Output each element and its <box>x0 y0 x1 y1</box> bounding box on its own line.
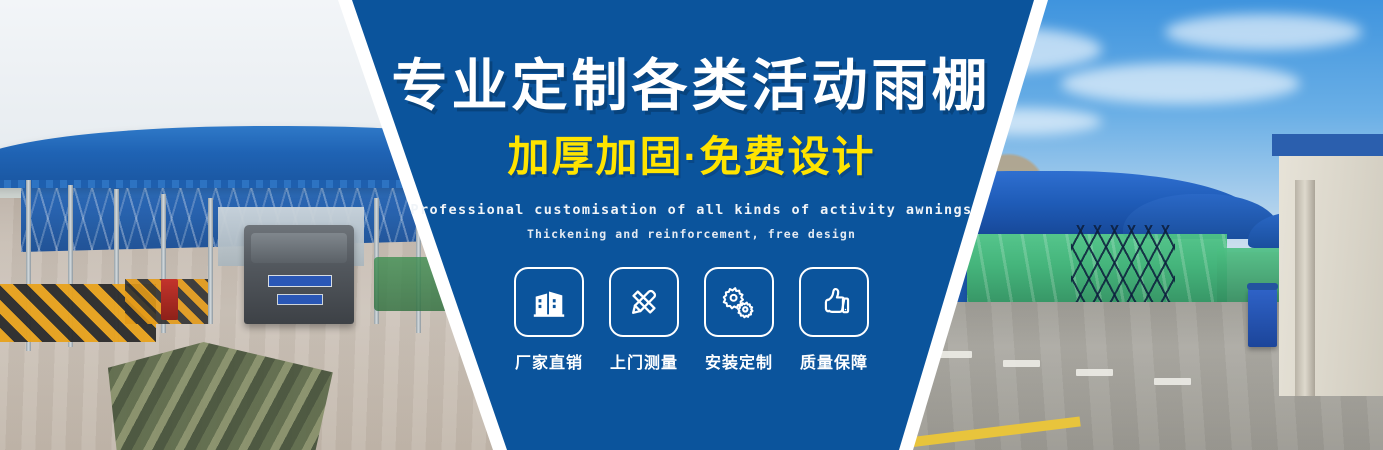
english-tagline-primary: Professional customisation of all kinds … <box>410 202 972 218</box>
banner-title: 专业定制各类活动雨棚 <box>392 58 992 114</box>
feature-item-onsite-measure[interactable]: 上门测量 <box>611 267 677 373</box>
feature-label: 厂家直销 <box>515 349 583 373</box>
english-tagline-secondary: Thickening and reinforcement, free desig… <box>527 227 856 241</box>
feature-label: 上门测量 <box>610 349 678 373</box>
feature-item-quality-guarantee[interactable]: 质量保障 <box>801 267 867 373</box>
building-icon <box>514 267 584 337</box>
feature-list: 厂家直销 上门测量 <box>516 267 867 373</box>
promo-banner: 专业定制各类活动雨棚 加厚加固·免费设计 Professional custom… <box>0 0 1383 450</box>
feature-label: 质量保障 <box>800 349 868 373</box>
ruler-pencil-icon <box>609 267 679 337</box>
feature-label: 安装定制 <box>705 349 773 373</box>
feature-item-custom-install[interactable]: 安装定制 <box>706 267 772 373</box>
thumbs-up-icon <box>799 267 869 337</box>
gears-icon <box>704 267 774 337</box>
banner-subtitle: 加厚加固·免费设计 <box>508 136 876 178</box>
feature-item-factory-direct[interactable]: 厂家直销 <box>516 267 582 373</box>
banner-content: 专业定制各类活动雨棚 加厚加固·免费设计 Professional custom… <box>0 0 1383 450</box>
